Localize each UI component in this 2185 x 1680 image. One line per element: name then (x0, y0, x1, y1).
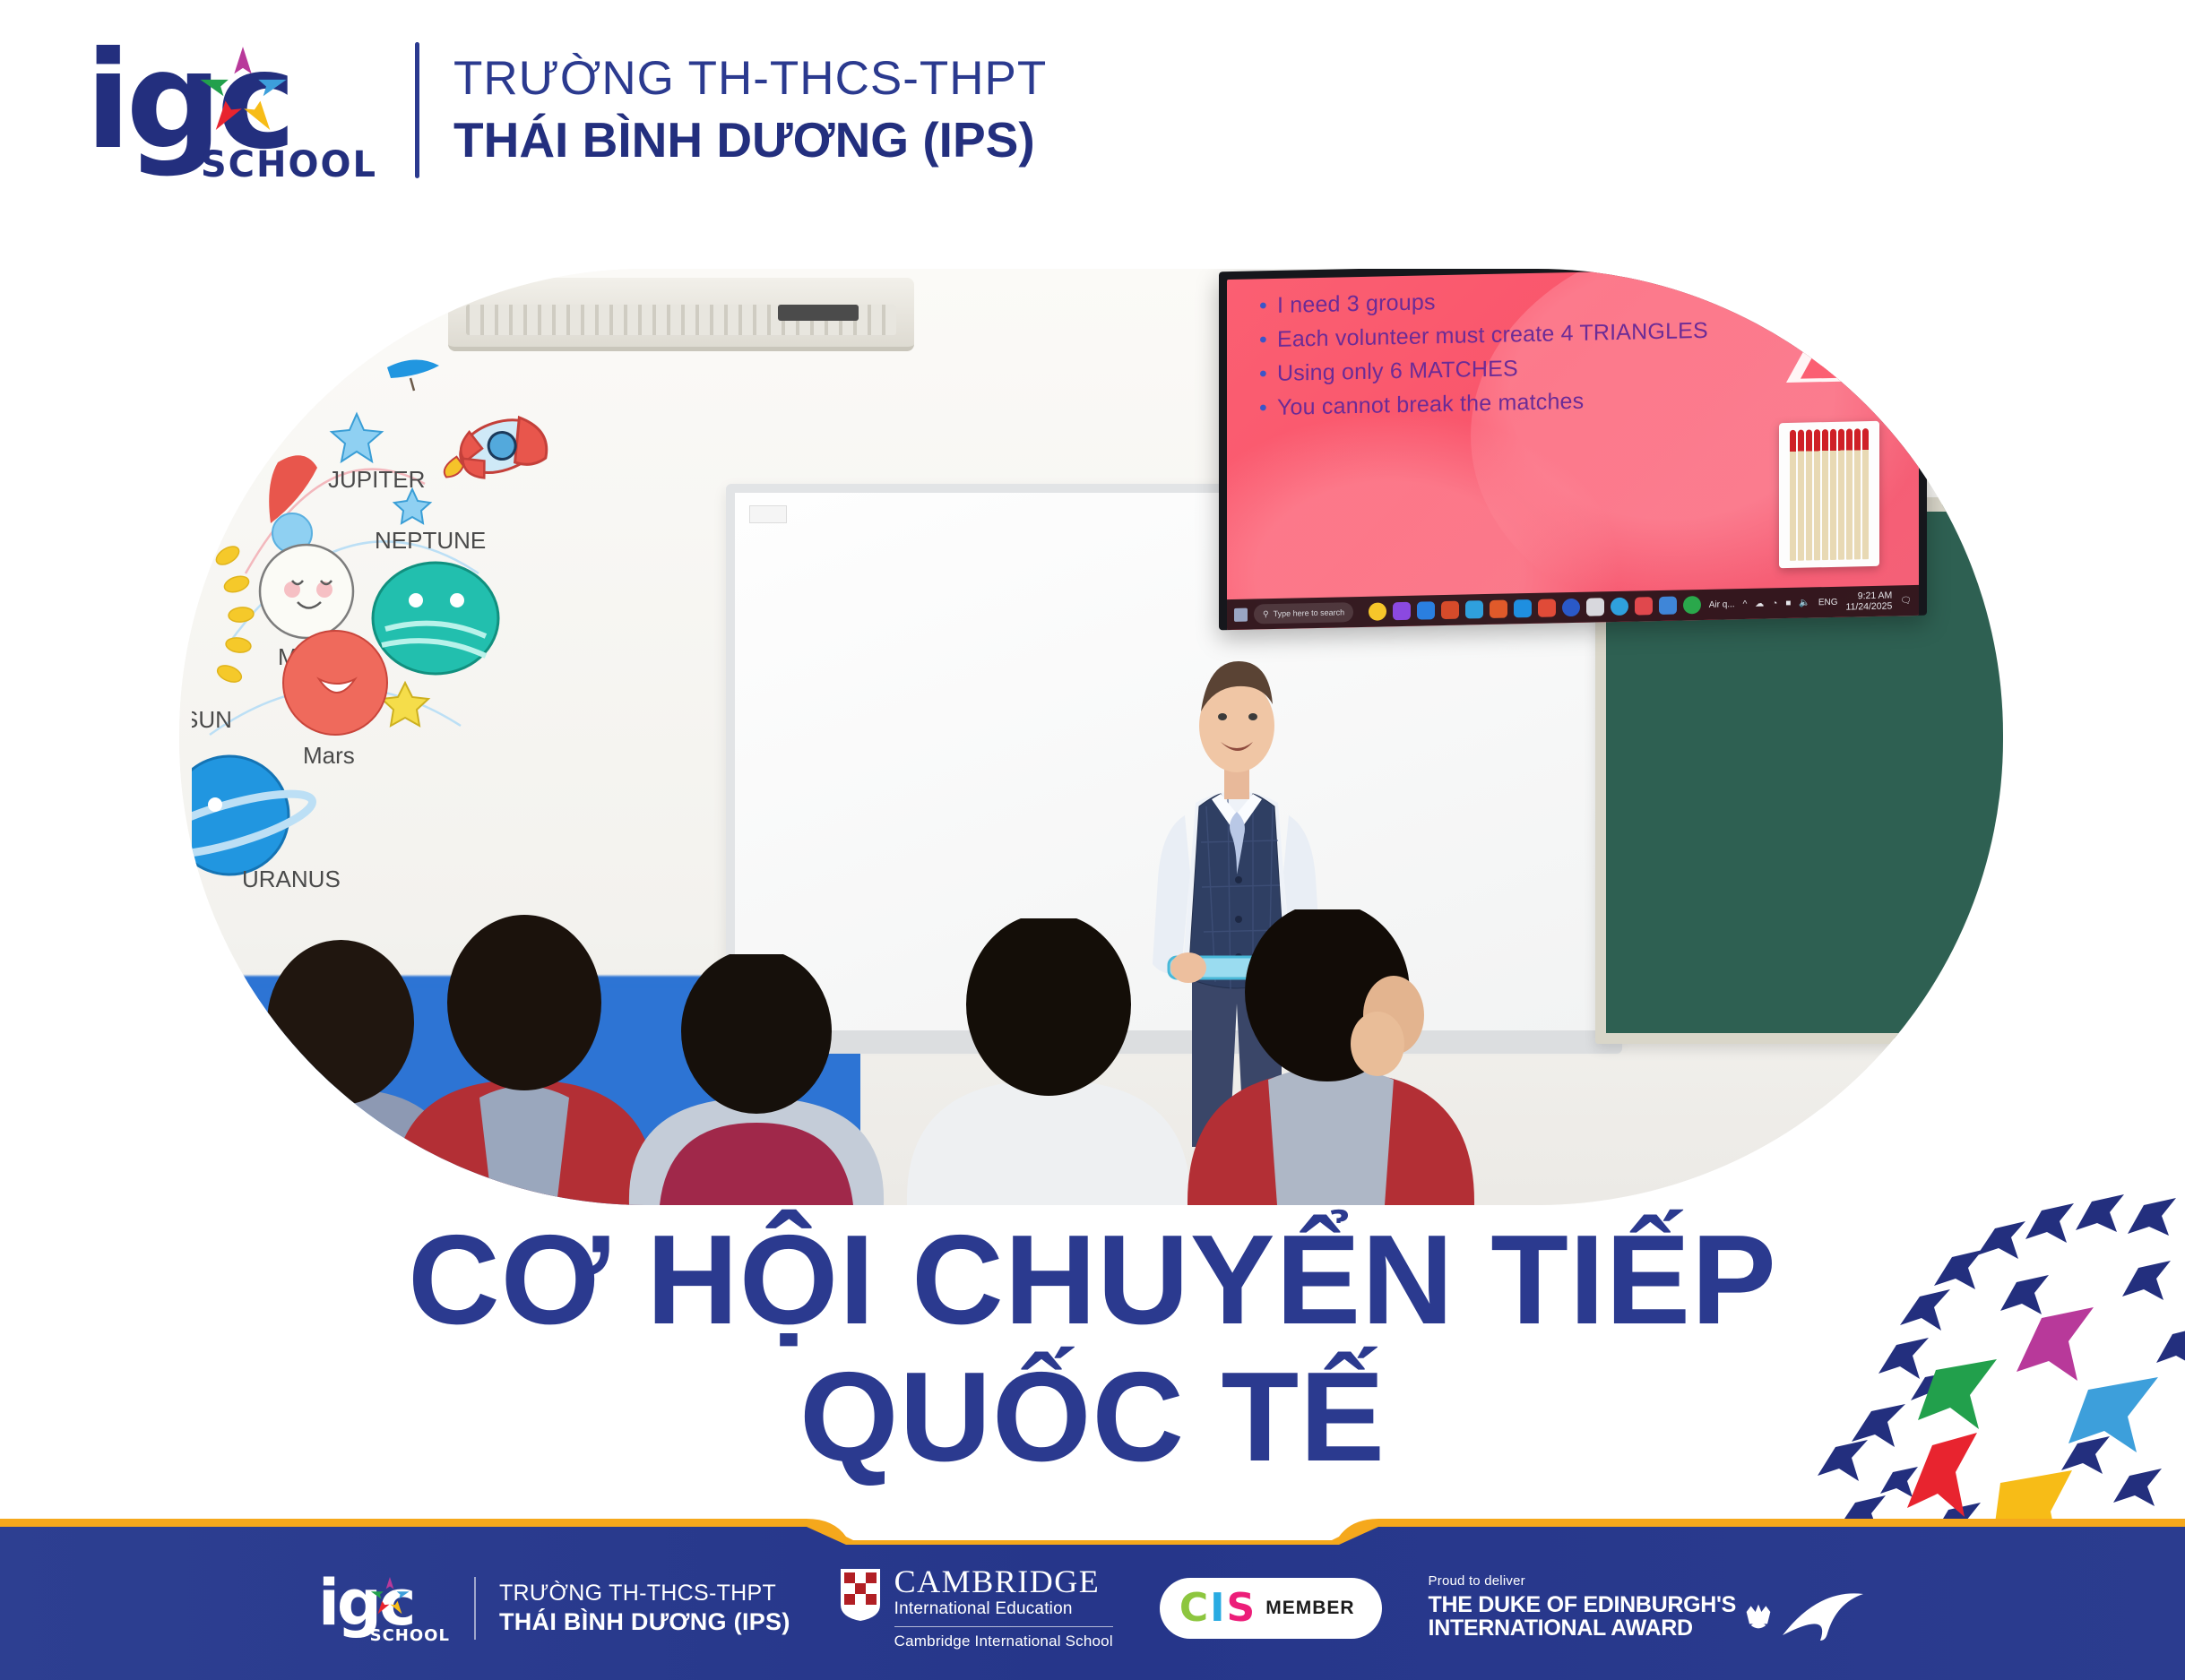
slide-bullet-list: • I need 3 groups • Each volunteer must … (1259, 281, 1761, 428)
duke-text: THE DUKE OF EDINBURGH'S INTERNATIONAL AW… (1429, 1593, 1737, 1641)
taskbar-system-tray[interactable]: Air q... ^ ☁ ◔ ■ 🔈 ENG 9:21 AM 11/24/202… (1709, 590, 1912, 616)
taskbar-settings-icon[interactable] (1586, 598, 1604, 616)
igc-logo: igc SCHOOL (85, 27, 381, 193)
air-conditioner (448, 278, 914, 351)
cis-member-badge: C I S MEMBER (1160, 1578, 1382, 1639)
match (1814, 429, 1820, 560)
taskbar-clock[interactable]: 9:21 AM 11/24/2025 (1846, 590, 1893, 612)
student-figure (1170, 909, 1492, 1205)
language-indicator[interactable]: ENG (1818, 597, 1838, 607)
bullet-icon: • (1259, 359, 1267, 389)
taskbar-app-icon[interactable] (1635, 597, 1653, 615)
cambridge-logo: CAMBRIDGE International Education Cambri… (837, 1565, 1113, 1650)
bullet-icon: • (1259, 325, 1267, 355)
star-icon (368, 1576, 411, 1619)
duke-line-1: THE DUKE OF EDINBURGH'S (1429, 1593, 1737, 1616)
taskbar-app-icon[interactable] (1659, 597, 1677, 615)
school-line-2: THÁI BÌNH DƯƠNG (IPS) (453, 111, 1047, 168)
cambridge-text: CAMBRIDGE International Education Cambri… (894, 1565, 1113, 1650)
headline: CƠ HỘI CHUYỂN TIẾP QUỐC TẾ (0, 1211, 2185, 1486)
slide-bullet-text: I need 3 groups (1277, 288, 1436, 321)
chat-icon[interactable]: 🗨 (1900, 596, 1912, 606)
cambridge-rule (894, 1626, 1113, 1627)
ac-display-panel (778, 305, 859, 321)
cis-letter-s: S (1227, 1589, 1256, 1628)
chevron-up-icon[interactable]: ^ (1743, 599, 1748, 608)
svg-text:JUPITER: JUPITER (328, 466, 425, 493)
match (1830, 429, 1836, 560)
match (1806, 429, 1812, 560)
svg-text:URANUS: URANUS (242, 866, 341, 892)
slide-bullet-item: • You cannot break the matches (1259, 383, 1761, 424)
headline-line-2: QUỐC TẾ (0, 1348, 2185, 1486)
volume-icon[interactable]: 🔈 (1799, 598, 1809, 607)
footer-logos-row: igc SCHOOL TRƯỜNG TH-THCS-THPT THÁI BÌNH… (0, 1514, 2185, 1680)
taskbar-app-icon[interactable] (1441, 601, 1459, 619)
clock-date: 11/24/2025 (1846, 601, 1893, 613)
match (1854, 428, 1861, 559)
cis-letter-i: I (1210, 1589, 1224, 1628)
cis-letter-c: C (1179, 1589, 1208, 1628)
classroom-photo: JUPITER Mercury (179, 269, 2003, 1205)
slide-bullet-text: You cannot break the matches (1277, 387, 1584, 423)
photo-content: JUPITER Mercury (179, 269, 2003, 1205)
cis-letters: C I S (1179, 1589, 1255, 1628)
school-line-1: TRƯỜNG TH-THCS-THPT (453, 51, 1047, 106)
battery-icon[interactable]: ■ (1785, 598, 1791, 607)
student-figure (609, 954, 905, 1205)
taskbar-app-icon[interactable] (1465, 600, 1483, 618)
footer-school-name: TRƯỜNG TH-THCS-THPT THÁI BÌNH DƯƠNG (IPS… (499, 1581, 790, 1636)
star-icon (194, 45, 291, 142)
poster-canvas: igc SCHOOL TRƯỜNG TH-THCS-THPT THÁI BÌNH… (0, 0, 2185, 1680)
solar-system-mural: JUPITER Mercury (192, 349, 640, 923)
duke-main-row: THE DUKE OF EDINBURGH'S INTERNATIONAL AW… (1429, 1590, 1868, 1642)
onedrive-icon[interactable]: ☁ (1755, 599, 1764, 608)
footer-divider (474, 1577, 476, 1640)
footer-school-line-2: THÁI BÌNH DƯƠNG (IPS) (499, 1608, 790, 1636)
match (1846, 428, 1852, 559)
match (1862, 428, 1869, 559)
slide-bullet-item: • Each volunteer must create 4 TRIANGLES (1259, 315, 1761, 356)
air-quality-label[interactable]: Air q... (1709, 599, 1735, 610)
taskbar-app-icon[interactable] (1417, 601, 1435, 619)
duke-proud-label: Proud to deliver (1429, 1573, 1868, 1589)
svg-text:Mars: Mars (303, 742, 355, 769)
taskbar-app-icons[interactable] (1369, 596, 1701, 621)
clock-time: 9:21 AM (1858, 590, 1893, 601)
taskbar-app-icon[interactable] (1562, 599, 1580, 616)
presentation-slide: • I need 3 groups • Each volunteer must … (1227, 269, 1919, 630)
footer-school-line-1: TRƯỜNG TH-THCS-THPT (499, 1581, 790, 1607)
taskbar-app-icon[interactable] (1490, 600, 1507, 618)
student-figure (887, 918, 1210, 1205)
headline-line-1: CƠ HỘI CHUYỂN TIẾP (0, 1211, 2185, 1348)
slide-bullet-item: • I need 3 groups (1259, 281, 1761, 322)
wifi-icon[interactable]: ◔ (1772, 599, 1777, 608)
duke-swoosh-icon (1781, 1590, 1867, 1642)
cambridge-line-2: International Education (894, 1599, 1073, 1619)
taskbar-app-icon[interactable] (1611, 598, 1628, 616)
footer: igc SCHOOL TRƯỜNG TH-THCS-THPT THÁI BÌNH… (0, 1514, 2185, 1680)
whiteboard-label (749, 505, 787, 523)
taskbar-app-icon[interactable] (1514, 599, 1532, 617)
duke-of-edinburgh-logo: Proud to deliver THE DUKE OF EDINBURGH'S… (1429, 1573, 1868, 1642)
crown-icon (1743, 1603, 1774, 1630)
taskbar-app-icon[interactable] (1538, 599, 1556, 616)
taskbar-app-icon[interactable] (1369, 602, 1386, 620)
cis-member-label: MEMBER (1265, 1598, 1354, 1619)
match (1822, 429, 1828, 560)
slide-bullet-item: • Using only 6 MATCHES (1259, 349, 1761, 390)
slide-bullet-text: Each volunteer must create 4 TRIANGLES (1277, 316, 1708, 355)
svg-text:NEPTUNE: NEPTUNE (375, 527, 486, 554)
header-school-name: TRƯỜNG TH-THCS-THPT THÁI BÌNH DƯƠNG (IPS… (453, 51, 1047, 168)
wall-mounted-tv: • I need 3 groups • Each volunteer must … (1219, 269, 1927, 630)
triangle-inner-fill (1801, 325, 1858, 378)
igc-logo-subtext: SCHOOL (201, 144, 377, 185)
svg-text:SUN: SUN (192, 706, 232, 733)
matchbox-image (1779, 421, 1879, 568)
footer-igc-block: igc SCHOOL TRƯỜNG TH-THCS-THPT THÁI BÌNH… (318, 1570, 790, 1647)
cambridge-line-1: CAMBRIDGE (894, 1565, 1101, 1598)
taskbar-app-icon[interactable] (1393, 602, 1411, 620)
taskbar-app-icon[interactable] (1683, 596, 1701, 614)
duke-line-2: INTERNATIONAL AWARD (1429, 1616, 1737, 1640)
footer-igc-subtext: SCHOOL (370, 1626, 450, 1645)
header: igc SCHOOL TRƯỜNG TH-THCS-THPT THÁI BÌNH… (85, 27, 1047, 193)
bullet-icon: • (1259, 291, 1267, 321)
header-divider (415, 42, 419, 178)
footer-igc-logo: igc SCHOOL (318, 1570, 451, 1647)
cambridge-line-3: Cambridge International School (894, 1633, 1113, 1650)
match (1790, 430, 1796, 561)
cambridge-crest-icon (837, 1565, 884, 1623)
bullet-icon: • (1259, 393, 1267, 423)
match (1838, 429, 1844, 560)
slide-bullet-text: Using only 6 MATCHES (1277, 354, 1518, 389)
match (1798, 430, 1804, 561)
matchsticks (1784, 428, 1874, 561)
